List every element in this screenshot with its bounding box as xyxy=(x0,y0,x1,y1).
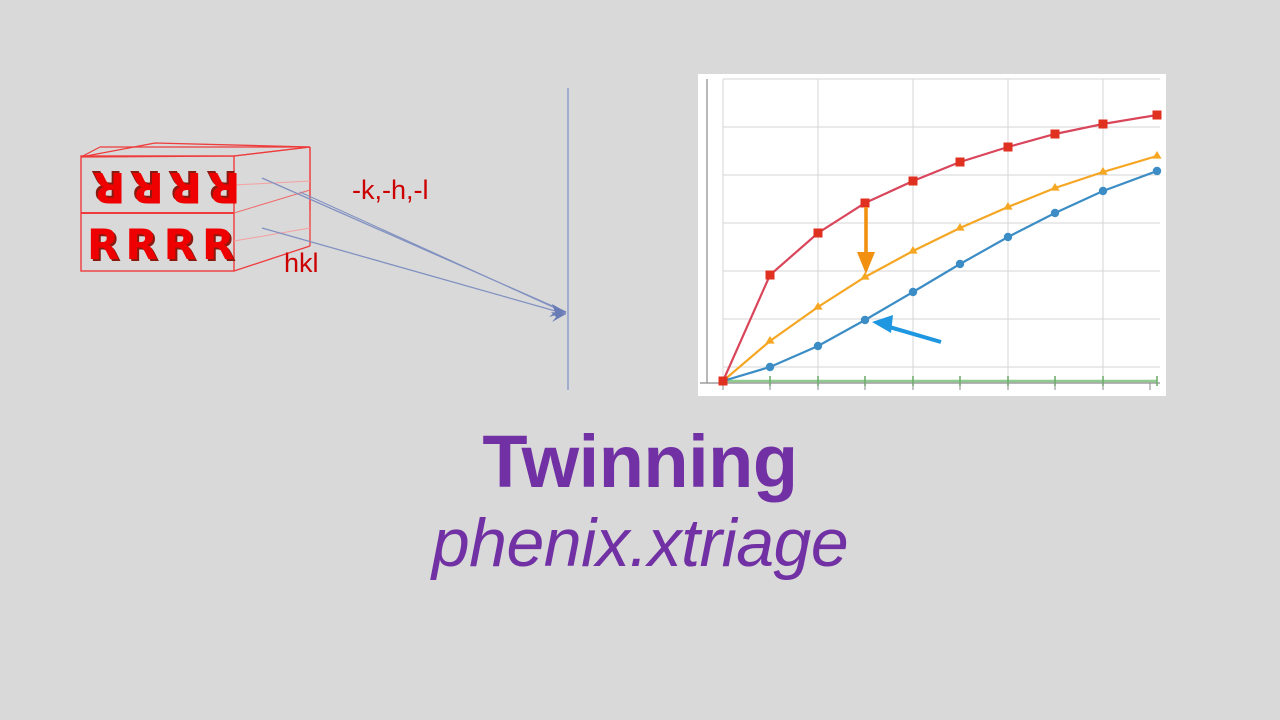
twin-domain-bottom-letters: RRRR xyxy=(87,220,240,269)
twin-domain-top-letters: RRRR xyxy=(87,163,240,212)
page-subtitle: phenix.xtriage xyxy=(0,505,1280,581)
chart-gridlines xyxy=(723,79,1160,383)
intensity-distribution-chart xyxy=(0,0,1280,720)
page-title: Twinning xyxy=(0,424,1280,501)
series-perfectly-twinned xyxy=(723,167,1161,381)
orange-down-arrow-annotation xyxy=(857,207,875,274)
hkl-label: hkl xyxy=(284,248,319,279)
title-block: Twinning phenix.xtriage xyxy=(0,424,1280,581)
crystal-diagram-layer xyxy=(0,0,1280,720)
series-partially-twinned xyxy=(723,151,1162,381)
chart-panel-background xyxy=(698,74,1166,396)
series-baseline xyxy=(723,376,1157,386)
ray-arrowhead-upper xyxy=(549,304,566,317)
crystal-diagram-svg xyxy=(0,0,1280,720)
ray-arrowhead-lower xyxy=(551,312,566,322)
chart-layer xyxy=(0,0,1280,720)
chart-x-ticks xyxy=(723,383,1150,390)
series-untwinned xyxy=(719,111,1162,386)
twin-operator-label: -k,-h,-l xyxy=(352,175,429,206)
slide-canvas: RRRR RRRR -k,-h,-l hkl xyxy=(0,0,1280,720)
chart-axes xyxy=(700,79,1160,383)
blue-pointer-arrow-annotation xyxy=(872,315,941,342)
